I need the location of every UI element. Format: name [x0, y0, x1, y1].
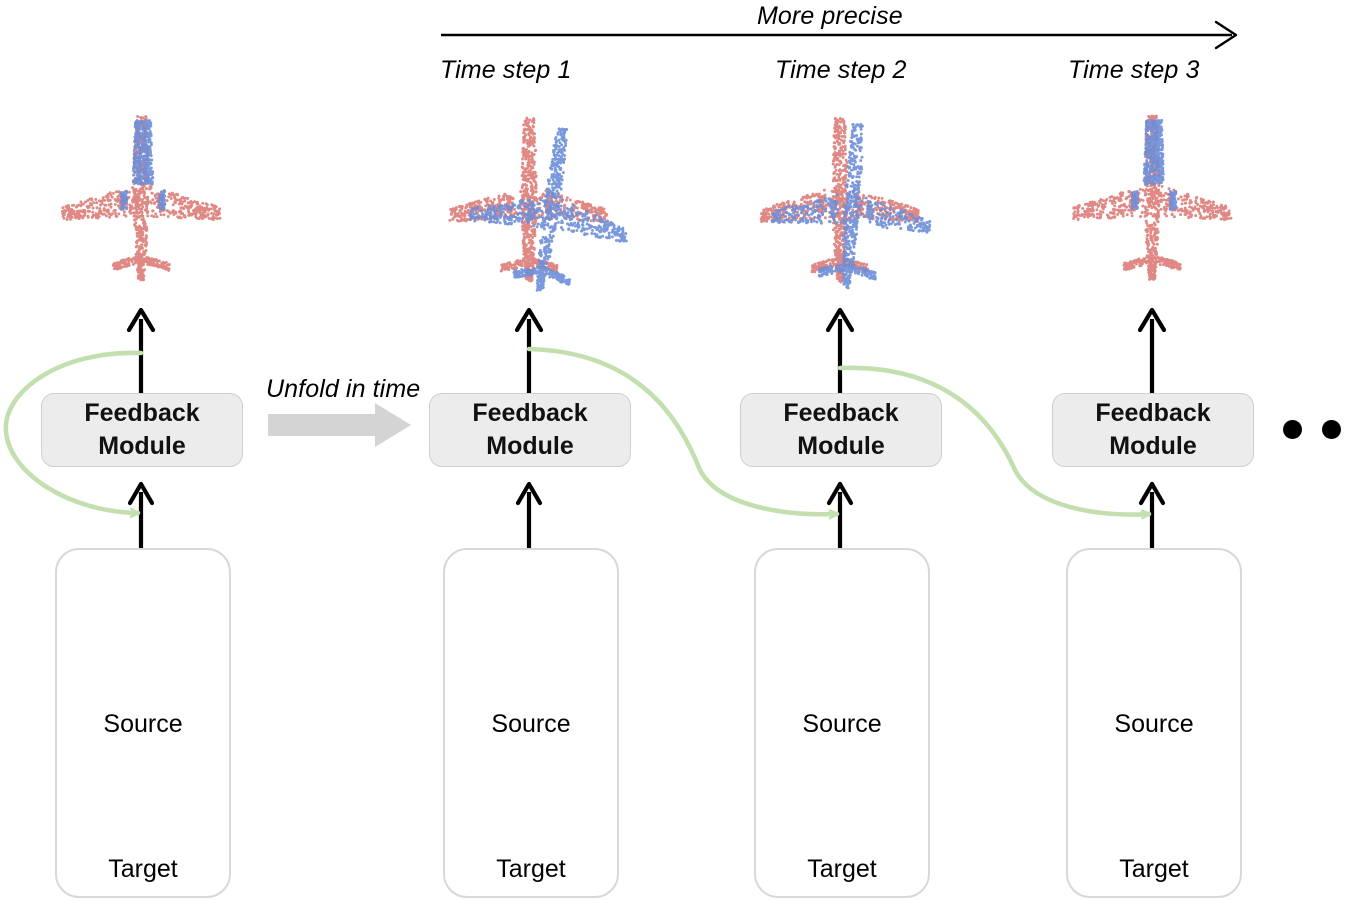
figure-canvas: More precise Time step 1 Time step 2 Tim…	[0, 0, 1360, 900]
source-target-box-folded: Source Target	[55, 548, 231, 898]
feedback-module-box-folded[interactable]: Feedback Module	[41, 393, 243, 467]
ellipsis-dot-1	[1283, 420, 1302, 439]
source-label: Source	[1068, 710, 1240, 739]
feedback-module-box-t3[interactable]: Feedback Module	[1052, 393, 1254, 467]
result-target-point-cloud	[760, 117, 921, 283]
target-label: Target	[1068, 855, 1240, 884]
feedback-module-label-line2: Module	[486, 430, 574, 463]
feedback-module-label-line1: Feedback	[1095, 397, 1210, 430]
source-target-box-t3: Source Target	[1066, 548, 1242, 898]
source-target-box-t2: Source Target	[754, 548, 930, 898]
point-cloud-layer	[61, 115, 1232, 876]
feedback-module-label-line2: Module	[98, 430, 186, 463]
target-label: Target	[57, 855, 229, 884]
unfold-in-time-arrow	[268, 403, 411, 447]
more-precise-label: More precise	[757, 2, 903, 31]
target-label: Target	[445, 855, 617, 884]
source-target-box-t1: Source Target	[443, 548, 619, 898]
feedback-module-label-line1: Feedback	[84, 397, 199, 430]
unfold-in-time-label: Unfold in time	[266, 375, 420, 404]
source-label: Source	[756, 710, 928, 739]
time-step-1-label: Time step 1	[440, 56, 571, 85]
source-label: Source	[445, 710, 617, 739]
feedback-module-label-line2: Module	[1109, 430, 1197, 463]
target-label: Target	[756, 855, 928, 884]
source-label: Source	[57, 710, 229, 739]
time-step-2-label: Time step 2	[775, 56, 906, 85]
result-source-point-cloud	[120, 119, 166, 211]
result-target-point-cloud	[61, 115, 221, 281]
ellipsis-dot-2	[1322, 420, 1341, 439]
feedback-module-label-line2: Module	[797, 430, 885, 463]
time-step-3-label: Time step 3	[1068, 56, 1199, 85]
feedback-module-label-line1: Feedback	[783, 397, 898, 430]
feedback-module-box-t1[interactable]: Feedback Module	[429, 393, 631, 467]
feedback-module-box-t2[interactable]: Feedback Module	[740, 393, 942, 467]
feedback-module-label-line1: Feedback	[472, 397, 587, 430]
ellipsis-dots	[1283, 420, 1360, 439]
